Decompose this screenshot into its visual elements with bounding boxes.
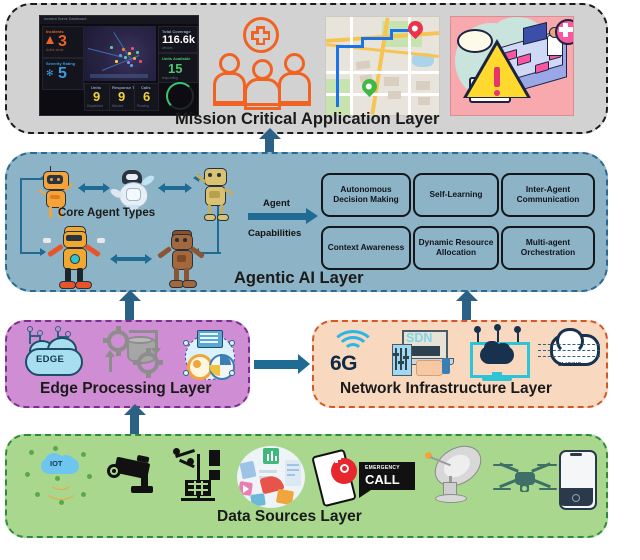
capability-inter-agent-communication[interactable]: Inter-Agent Communication: [501, 173, 595, 217]
network-infrastructure-layer: 6G SDN: [312, 320, 608, 408]
data-layer-title: Data Sources Layer: [217, 508, 362, 526]
sdn-badge: SDN: [406, 331, 432, 345]
emergency-label-line1: EMERGENCY: [365, 465, 400, 471]
edge-layer-title: Edge Processing Layer: [40, 380, 211, 398]
dashboard-panel-response-time: Response Time 9 Minutes: [109, 83, 135, 111]
warning-triangle-icon: [46, 36, 54, 44]
edge-cloud-icon: EDGE: [21, 328, 87, 376]
agent-capabilities-label-top: Agent: [263, 198, 290, 209]
panel-sub: Dispatched: [87, 104, 103, 108]
dashboard-incident-map: [84, 26, 156, 81]
panel-sub: Active alerts: [46, 48, 63, 52]
medical-team-icon: [205, 15, 320, 115]
agent-capabilities-arrow: [248, 213, 306, 220]
agent-robot-red: [43, 226, 105, 288]
edge-processing-layer: EDGE: [5, 320, 250, 408]
edge-analytics-icon: [181, 328, 237, 380]
data-sources-layer: IOT: [5, 434, 608, 538]
panel-sub: Pending: [137, 104, 149, 108]
arrow-agentic-to-application: [265, 138, 274, 152]
emergency-alert-illustration: [450, 16, 574, 116]
architecture-diagram: Incident Scene Dashboard Incidents 3 Act…: [0, 0, 640, 560]
agent-robot-gold: [195, 164, 237, 220]
panel-value: 9: [93, 90, 100, 103]
slicing-badge: SLICING: [558, 362, 582, 368]
navigation-map-tile: [325, 16, 440, 116]
dashboard-titlebar: Incident Scene Dashboard: [40, 16, 198, 24]
snowflake-icon: ✻: [46, 69, 54, 77]
panel-sub: Minutes: [112, 104, 123, 108]
iot-badge: IOT: [50, 459, 63, 468]
arrow-data-to-edge: [130, 414, 139, 434]
data-processing-gears-icon: [105, 328, 169, 378]
panel-sub: responding: [162, 76, 178, 80]
capability-autonomous-decision-making[interactable]: Autonomous Decision Making: [321, 173, 411, 217]
network-slicing-icon: SLICING: [538, 332, 600, 378]
arrow-edge-to-network: [254, 360, 298, 369]
incident-dashboard-tile: Incident Scene Dashboard Incidents 3 Act…: [39, 15, 199, 116]
cctv-camera-icon: [107, 454, 163, 504]
panel-value: 116.6k: [162, 35, 195, 46]
arrow-network-to-agentic: [462, 300, 471, 320]
mission-critical-application-layer: Incident Scene Dashboard Incidents 3 Act…: [5, 3, 608, 134]
capability-dynamic-resource-allocation[interactable]: Dynamic Resource Allocation: [413, 226, 499, 270]
agent-robot-brown: [155, 230, 207, 288]
dashboard-panel-calls: Calls 6 Pending: [134, 83, 159, 111]
emergency-label-line2: CALL: [365, 472, 400, 487]
cloud-monitor-icon: [466, 326, 528, 382]
6g-badge: 6G: [330, 352, 357, 376]
arrow-edge-to-agentic: [125, 300, 134, 320]
dashboard-panel-coverage: Total Coverage 116.6k devices: [158, 26, 198, 53]
smartphone-icon: [559, 450, 597, 510]
edge-badge: EDGE: [36, 354, 64, 365]
panel-value: 9: [118, 90, 125, 103]
capability-multi-agent-orchestration[interactable]: Multi-agent Orchestration: [501, 226, 595, 270]
social-media-feed-icon: [237, 446, 305, 508]
dashboard-window-title: Incident Scene Dashboard: [44, 17, 86, 21]
sdn-control-icon: SDN: [390, 328, 460, 382]
application-layer-title: Mission Critical Application Layer: [175, 110, 439, 129]
capability-self-learning[interactable]: Self-Learning: [413, 173, 499, 217]
dashboard-panel-units: Units 9 Dispatched: [84, 83, 110, 111]
agent-link-3: [117, 257, 145, 261]
capability-context-awareness[interactable]: Context Awareness: [321, 226, 411, 270]
agent-capabilities-label-bottom: Capabilities: [248, 228, 301, 239]
core-agent-types-label: Core Agent Types: [58, 207, 155, 219]
panel-value: 6: [143, 90, 150, 103]
dashboard-panel-units-available: Units Available 15 responding: [158, 53, 198, 83]
dashboard-panel-severity: Severity Rating ✻ 5: [42, 58, 84, 90]
iot-sensor-cloud-icon: IOT: [25, 444, 93, 506]
panel-value: 5: [58, 66, 67, 82]
drone-icon: [493, 460, 555, 500]
emergency-call-icon: EMERGENCY CALL: [315, 448, 415, 506]
dashboard-panel-incidents: Incidents 3 Active alerts: [42, 26, 84, 58]
agent-link-1: [85, 186, 103, 190]
agent-link-2: [165, 186, 185, 190]
network-layer-title: Network Infrastructure Layer: [340, 380, 552, 398]
dashboard-gauge: [166, 82, 194, 110]
wifi-6g-icon: 6G: [326, 328, 380, 378]
panel-value: 15: [168, 62, 182, 75]
agentic-layer-title: Agentic AI Layer: [234, 269, 364, 288]
weather-station-icon: [173, 448, 231, 506]
satellite-dish-icon: [421, 446, 483, 508]
panel-sub: devices: [162, 46, 173, 50]
